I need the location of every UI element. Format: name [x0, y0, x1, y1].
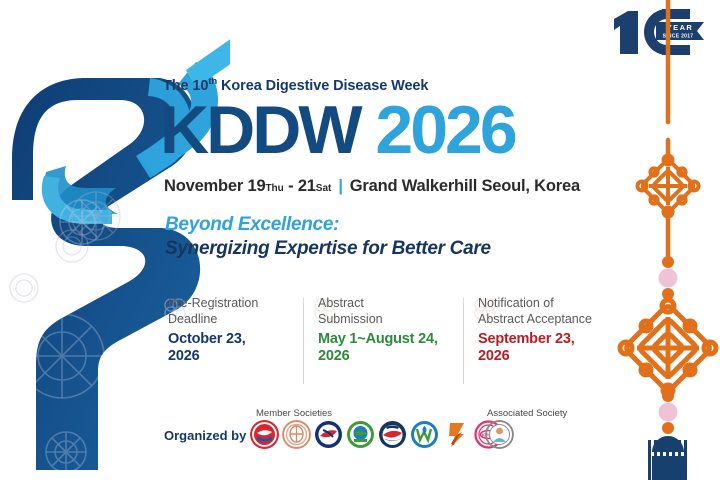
key-dates-section: Pre-Registration Deadline October 23, 20… [160, 296, 630, 388]
deadline-value: May 1~August 24, 2026 [312, 331, 462, 365]
kddw-2026-poster: YEAR SINCE 2017 [0, 0, 720, 480]
event-tagline: Beyond Excellence: Synergizing Expertise… [165, 213, 491, 261]
society-logo-5[interactable] [378, 420, 407, 449]
deadline-label: Notification of Abstract Acceptance [472, 296, 622, 327]
knot-bead [662, 256, 674, 268]
member-societies-caption: Member Societies [256, 408, 332, 419]
society-logo-4[interactable] [346, 420, 375, 449]
deadline-label: Pre-Registration Deadline [162, 296, 312, 327]
society-logo-3[interactable] [314, 420, 343, 449]
pink-bead [659, 269, 678, 288]
associated-society-logos [485, 420, 514, 449]
poster-content: The 10th Korea Digestive Disease Week KD… [160, 0, 630, 480]
society-logo-1[interactable] [250, 420, 279, 449]
wordmark-year: 2026 [375, 92, 514, 168]
wordmark-kddw: KDDW [160, 92, 360, 168]
deadline-value: September 23, 2026 [472, 331, 622, 365]
deadline-abstract-submission: Abstract Submission May 1~August 24, 202… [312, 296, 462, 388]
deadline-value: October 23, 2026 [162, 331, 312, 365]
date-venue-bar: November 19Thu - 21Sat|Grand Walkerhill … [164, 177, 580, 196]
deadline-abstract-acceptance: Notification of Abstract Acceptance Sept… [472, 296, 622, 388]
event-venue: Grand Walkerhill Seoul, Korea [350, 177, 580, 195]
organizers-section: Organized by Member Societies Associated… [160, 404, 630, 470]
organized-by-label: Organized by [164, 428, 246, 443]
event-date-start-dow: Thu [265, 183, 283, 194]
member-society-logos: KPBA [250, 420, 503, 449]
kicker-ordinal-suffix: th [208, 76, 217, 87]
event-date-end-dow: Sat [316, 183, 332, 194]
associated-society-caption: Associated Society [487, 408, 567, 419]
society-logo-6[interactable] [410, 420, 439, 449]
deadline-pre-registration: Pre-Registration Deadline October 23, 20… [162, 296, 312, 388]
tagline-line-2: Synergizing Expertise for Better Care [165, 236, 491, 261]
event-date-end: - 21 [284, 177, 316, 195]
event-wordmark: KDDW 2026 [160, 96, 515, 164]
date-venue-separator: | [338, 177, 342, 195]
associated-society-logo[interactable] [485, 420, 514, 449]
tagline-line-1: Beyond Excellence: [165, 213, 491, 236]
deadline-divider [463, 298, 464, 384]
event-date-start: November 19 [164, 177, 265, 195]
society-logo-7[interactable] [442, 420, 471, 449]
deadline-label: Abstract Submission [312, 296, 462, 327]
society-logo-2[interactable] [282, 420, 311, 449]
